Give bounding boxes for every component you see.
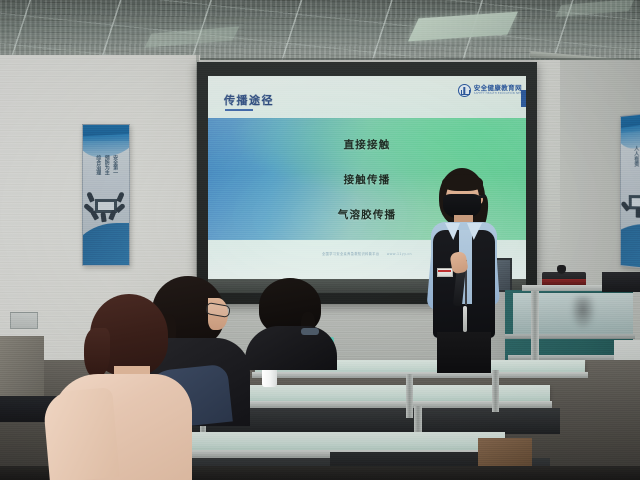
presenter-fringe [442,174,483,191]
banner-figure [636,207,640,217]
desk-leg [492,370,499,412]
partition-glass-silhouette [570,296,596,330]
stacked-book-red [542,279,586,285]
attendee-front-left [52,294,192,480]
partition-rail [505,334,635,339]
monitor-back [602,272,640,292]
attendee-collar [301,328,319,335]
slide-logo-text: 安全健康教育网 SAFETY HEALTH EDUCATION NET [474,85,522,95]
photo-scene: 安全第一 预防为主 综合治理 安全生产 人人有责 [0,0,640,480]
wall-placard [10,312,38,329]
presenter-trousers [437,332,491,373]
name-badge-stripe [438,270,451,272]
attendee-torso [245,326,337,370]
wall-banner-right: 安全生产 人人有责 [620,112,640,271]
slide-footer-org: 全国学习安全素养急救知识科普平台 [322,252,379,256]
shield-circle-logo-icon [458,84,471,97]
banner-corner-graphic [82,223,130,266]
slide-bullet: 气溶胶传播 [338,207,397,222]
slide-logo-subtitle: SAFETY HEALTH EDUCATION NET [474,93,522,96]
banner-column: 安全第一 [112,155,117,175]
presenter [415,168,511,373]
slide-logo: 安全健康教育网 SAFETY HEALTH EDUCATION NET [458,84,522,97]
slide-footer-url: www.11yy.cn [387,252,412,256]
attendee-hair-side [84,328,110,378]
slide-logo-tab [521,90,526,107]
banner-figure [116,191,125,202]
slide-title: 传播途径 [224,92,274,108]
slide-bullet: 直接接触 [344,137,391,152]
banner-column: 人人有责 [633,146,638,167]
banner-corner-graphic [620,222,640,270]
attendee-back-center [245,278,337,370]
slide-footer-text: 全国学习安全素养急救知识科普平台 www.11yy.cn [322,251,412,256]
wall-banner-left: 安全第一 预防为主 综合治理 [82,124,130,266]
desk-object-knob [557,265,566,274]
banner-column: 综合治理 [95,155,100,175]
banner-column: 预防为主 [103,155,108,175]
banner-text-columns: 安全第一 预防为主 综合治理 [83,155,129,175]
vest-pocket-trim [463,306,467,332]
foreground-furniture-left [0,336,44,402]
desk-row-front [175,432,505,452]
banner-figure [86,191,95,202]
banner-text-columns: 安全生产 人人有责 [621,145,640,167]
attendee-shoulder [42,387,120,480]
slide-bullet: 接触传播 [344,172,391,187]
slide-title-underline [225,109,253,111]
desk-leg [406,374,413,418]
banner-teamwork-graphic [620,187,640,219]
banner-teamwork-graphic [85,191,127,221]
slide-logo-name: 安全健康教育网 [474,85,522,92]
banner-figure [100,212,106,223]
